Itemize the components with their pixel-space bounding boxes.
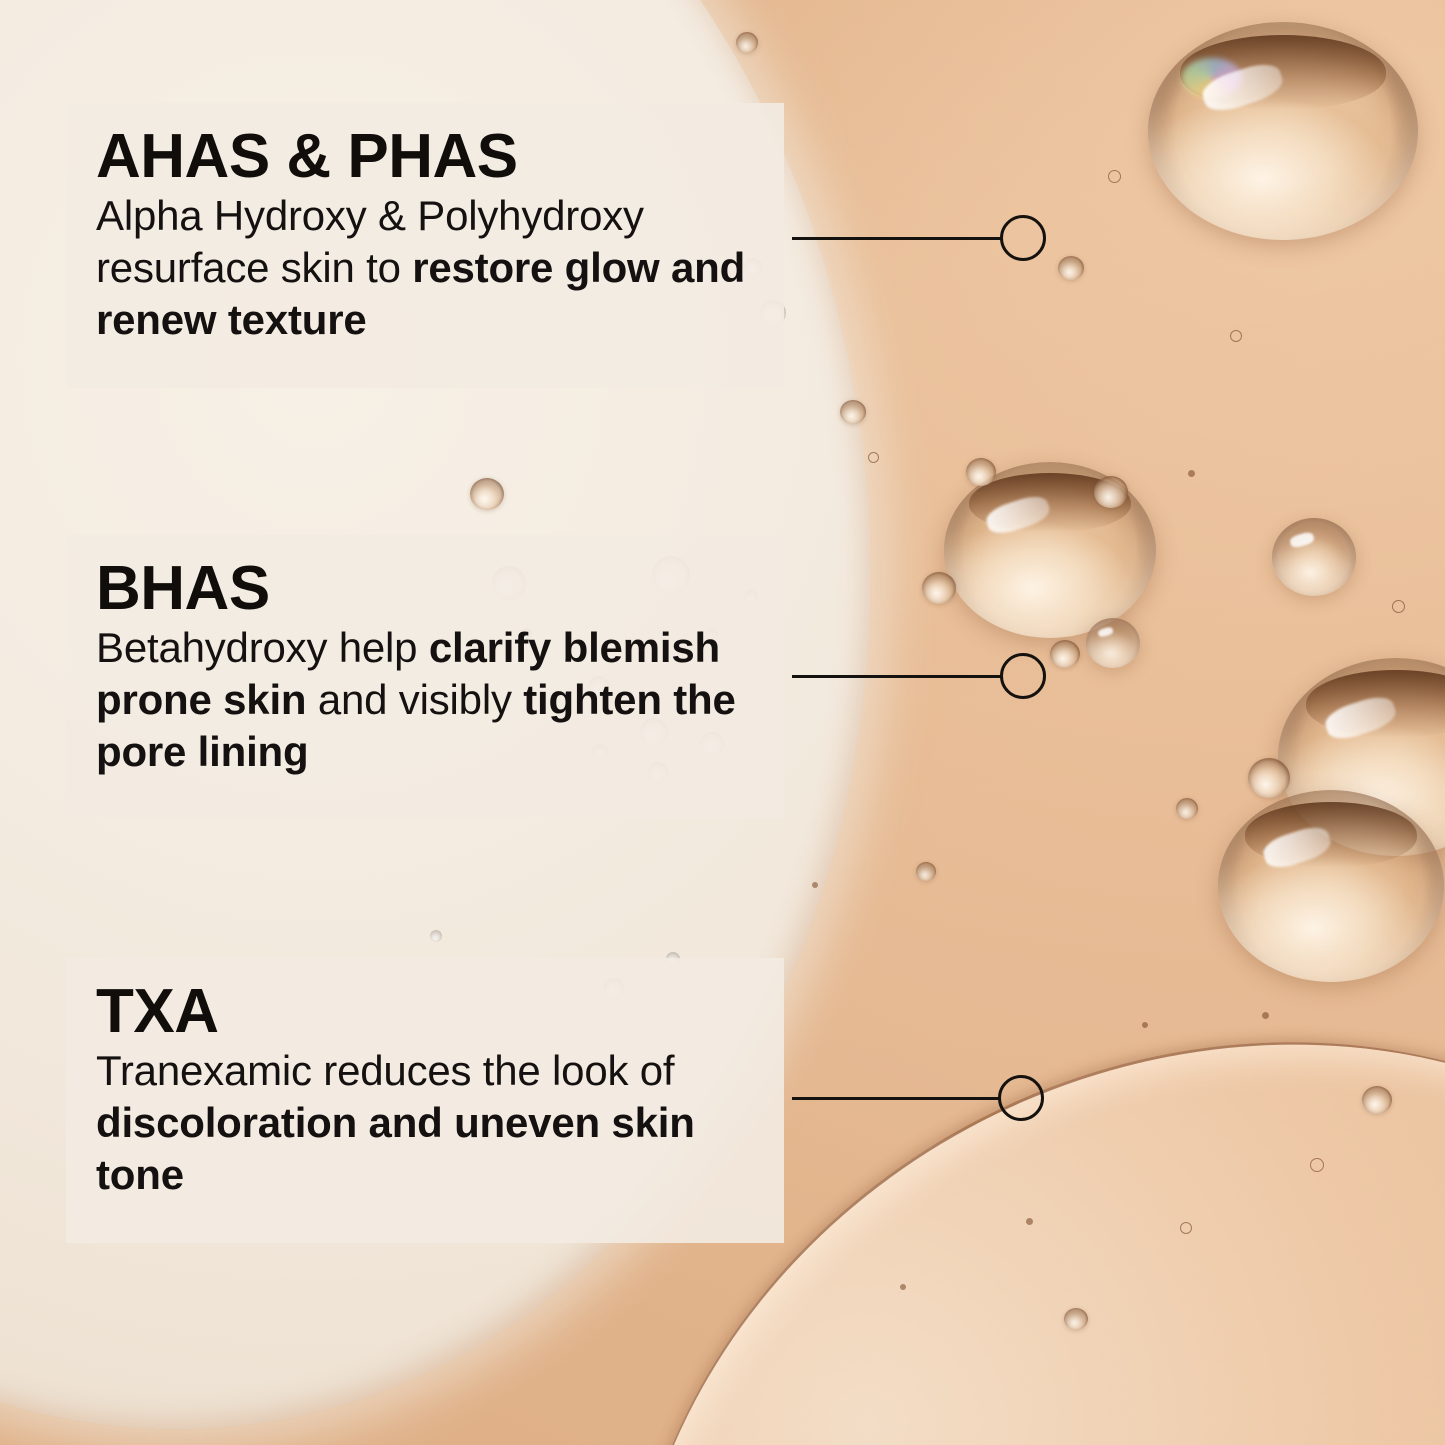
ingredient-card-txa: TXA Tranexamic reduces the look of disco…: [66, 958, 784, 1243]
speck-ring-5: [1392, 600, 1405, 613]
droplet-speck-d: [470, 478, 504, 510]
droplet-middle-edge-topright: [1094, 476, 1128, 508]
speck-dot-4: [1262, 1012, 1269, 1019]
connector-ahas-phas: [792, 215, 1046, 261]
droplet-speck-g: [1064, 1308, 1088, 1330]
speck-dot-5: [812, 882, 818, 888]
droplet-speck-f: [1176, 798, 1198, 819]
droplet-middle-right-outer: [1272, 518, 1356, 596]
card-body: Alpha Hydroxy & Polyhydroxy resurface sk…: [96, 190, 754, 346]
card-heading: AHAS & PHAS: [96, 125, 754, 188]
connector-endpoint-circle: [1000, 215, 1046, 261]
connector-line: [792, 675, 1002, 678]
droplet-speck-c: [840, 400, 866, 424]
ingredient-card-ahas-phas: AHAS & PHAS Alpha Hydroxy & Polyhydroxy …: [66, 103, 784, 388]
iridescent-highlight: [1182, 58, 1242, 98]
connector-line: [792, 237, 1002, 240]
connector-bhas: [792, 653, 1046, 699]
card-heading: BHAS: [96, 557, 754, 620]
droplet-middle-edge-left: [922, 572, 956, 604]
connector-line: [792, 1097, 1000, 1100]
connector-endpoint-circle: [1000, 653, 1046, 699]
speck-dot-3: [900, 1284, 906, 1290]
connector-endpoint-circle: [998, 1075, 1044, 1121]
droplet-pair-junction: [1248, 758, 1290, 798]
card-heading: TXA: [96, 980, 754, 1043]
droplet-pair-lower: [1218, 790, 1444, 982]
speck-ring-1: [1108, 170, 1121, 183]
card-body: Tranexamic reduces the look of discolora…: [96, 1045, 754, 1201]
connector-txa: [792, 1075, 1044, 1121]
droplet-large-top-right: [1148, 22, 1418, 240]
droplet-middle-edge-top: [966, 458, 996, 486]
droplet-middle-tiny: [1050, 640, 1080, 668]
infographic-canvas: AHAS & PHAS Alpha Hydroxy & Polyhydroxy …: [0, 0, 1445, 1445]
droplet-middle-small-right: [1086, 618, 1140, 668]
speck-ring-2: [1230, 330, 1242, 342]
card-body: Betahydroxy help clarify blemish prone s…: [96, 622, 754, 778]
droplet-speck-h: [916, 862, 936, 881]
speck-ring-6: [868, 452, 879, 463]
speck-ring-3: [1310, 1158, 1324, 1172]
speck-dot-2: [1142, 1022, 1148, 1028]
speck-dot-6: [1188, 470, 1195, 477]
ingredient-card-bhas: BHAS Betahydroxy help clarify blemish pr…: [66, 535, 784, 818]
droplet-speck-a: [1058, 256, 1084, 280]
droplet-speck-b: [736, 32, 758, 53]
speck-ring-4: [1180, 1222, 1192, 1234]
bubble-15: [430, 930, 442, 942]
speck-dot-1: [1026, 1218, 1033, 1225]
droplet-speck-e: [1362, 1086, 1392, 1114]
